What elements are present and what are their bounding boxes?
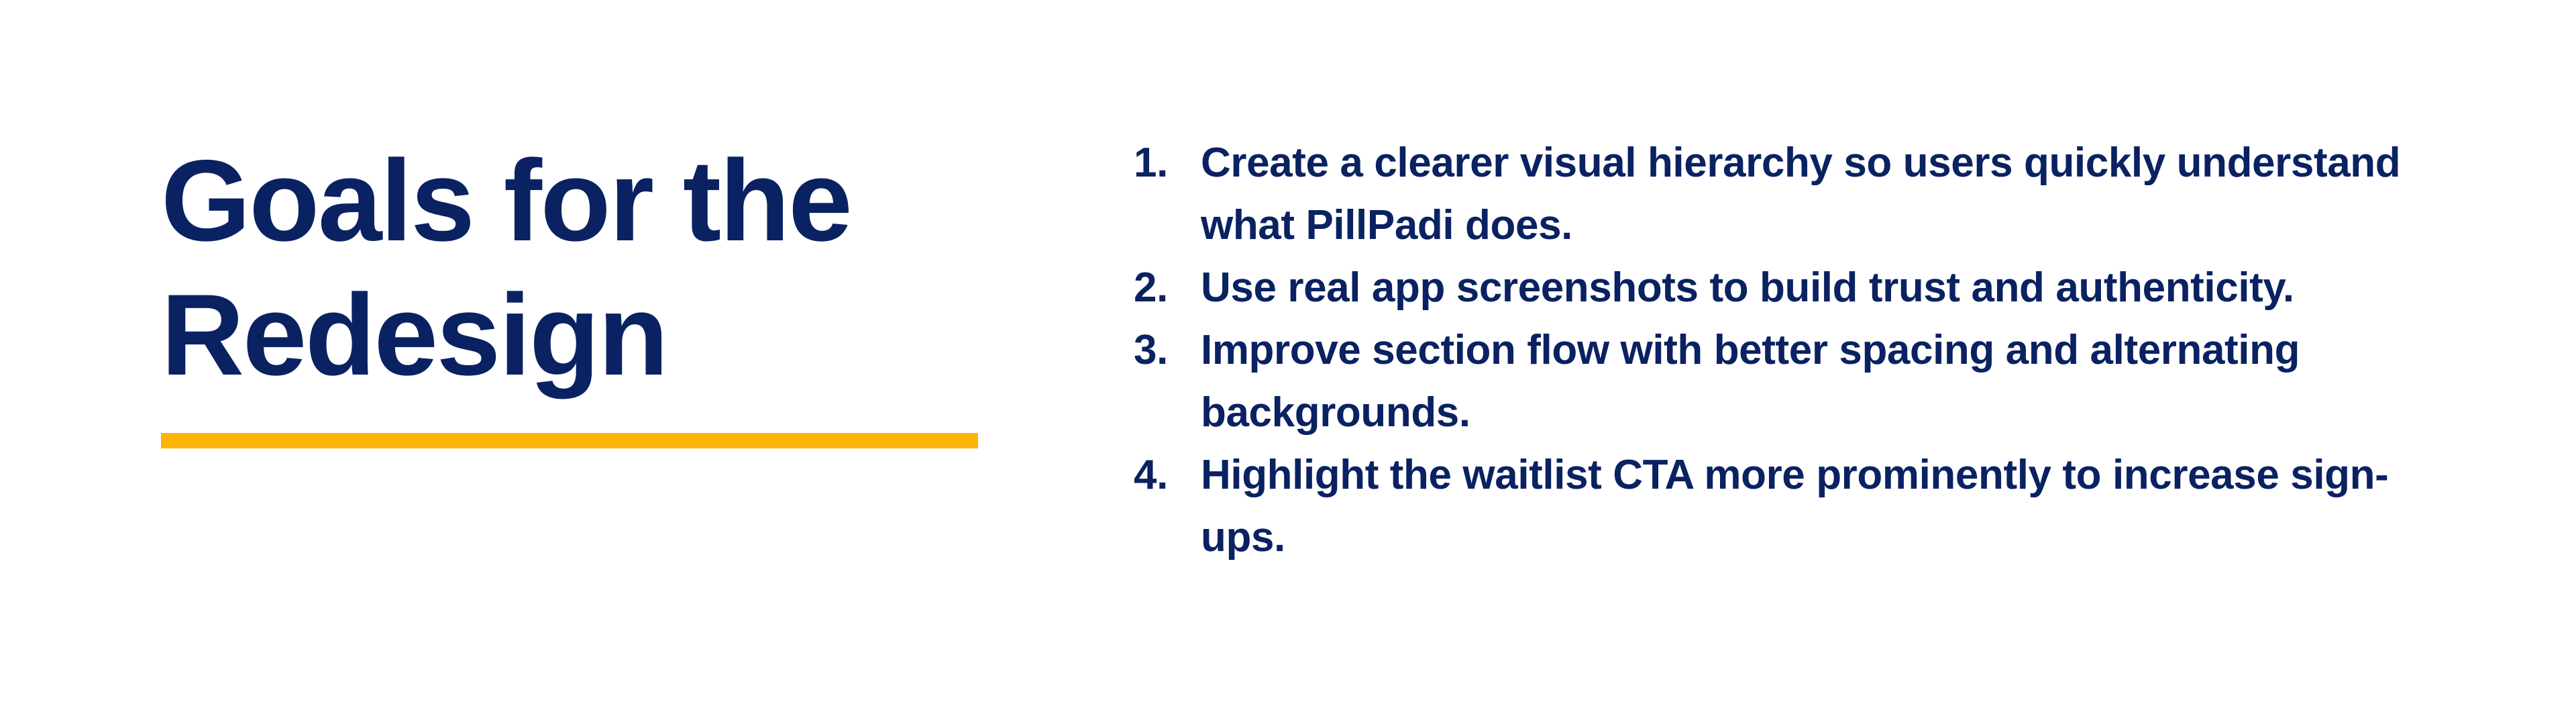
goals-block: 1. Create a clearer visual hierarchy so … (1134, 132, 2422, 569)
page-title: Goals for the Redesign (161, 134, 1033, 402)
list-item-marker: 3. (1134, 319, 1190, 381)
list-item-marker: 4. (1134, 444, 1190, 506)
list-item-text: Highlight the waitlist CTA more prominen… (1201, 444, 2422, 569)
title-underline-rule (161, 433, 978, 448)
slide-canvas: Goals for the Redesign 1. Create a clear… (0, 0, 2576, 727)
list-item: 4. Highlight the waitlist CTA more promi… (1134, 444, 2422, 569)
list-item: 1. Create a clearer visual hierarchy so … (1134, 132, 2422, 256)
list-item-text: Create a clearer visual hierarchy so use… (1201, 132, 2422, 256)
title-block: Goals for the Redesign (161, 134, 1033, 448)
list-item-marker: 1. (1134, 132, 1190, 194)
list-item: 3. Improve section flow with better spac… (1134, 319, 2422, 444)
list-item-text: Use real app screenshots to build trust … (1201, 256, 2422, 319)
list-item-marker: 2. (1134, 256, 1190, 319)
list-item-text: Improve section flow with better spacing… (1201, 319, 2422, 444)
goals-list: 1. Create a clearer visual hierarchy so … (1134, 132, 2422, 569)
list-item: 2. Use real app screenshots to build tru… (1134, 256, 2422, 319)
